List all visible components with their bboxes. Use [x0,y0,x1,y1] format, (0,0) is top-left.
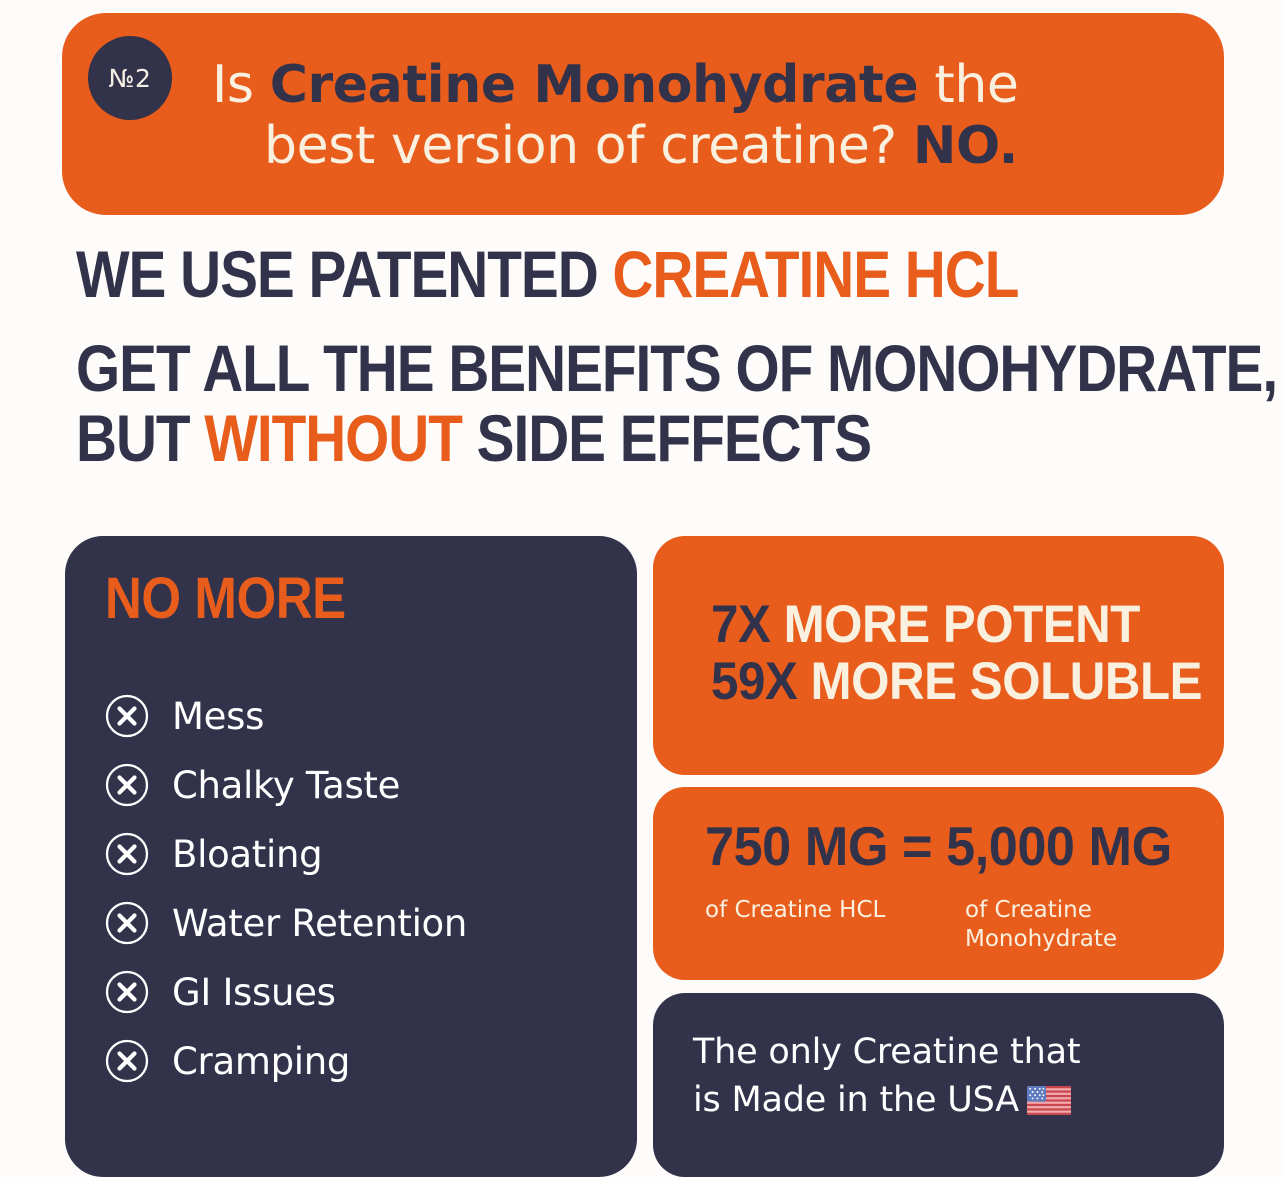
circle-x-icon [105,694,149,738]
headline-3-accent: WITHOUT [204,401,462,475]
no-more-list: Mess Chalky Taste Bloa [105,690,597,1087]
potency-line-1: 7X MORE POTENT [711,596,1188,653]
dose-captions: of Creatine HCL of Creatine Monohydrate [705,896,1224,955]
header-question-part2: the [918,55,1018,115]
no-more-title: NO MORE [105,570,538,628]
no-more-panel: NO MORE Mess Chalky Tas [65,536,637,1177]
header-question-line2: best version of creatine? NO. [264,116,1202,177]
list-item-label: Bloating [172,836,322,873]
potency-card: 7X MORE POTENT 59X MORE SOLUBLE [653,536,1224,775]
list-item-label: Cramping [172,1043,350,1080]
circle-x-icon [105,901,149,945]
potency-text-2: MORE SOLUBLE [797,652,1202,711]
list-item: GI Issues [105,966,597,1018]
made-in-usa-card: The only Creatine that is Made in the US… [653,993,1224,1177]
potency-multiplier-1: 7X [711,595,770,654]
headline-1-accent: CREATINE HCL [612,237,1018,311]
headline-1-plain: WE USE PATENTED [76,237,612,311]
list-item-label: GI Issues [172,974,336,1011]
step-number-label: №2 [109,66,152,91]
header-question-emphasis2: NO. [913,116,1018,176]
list-item-label: Water Retention [172,905,467,942]
circle-x-icon [105,832,149,876]
dose-equivalence-card: 750 MG = 5,000 MG of Creatine HCL of Cre… [653,787,1224,980]
made-in-usa-line-2: is Made in the USA [693,1080,1019,1120]
infographic-page: №2 Is Creatine Monohydrate the best vers… [0,0,1284,1177]
step-number-badge: №2 [88,36,172,120]
list-item-label: Chalky Taste [172,767,400,804]
list-item: Bloating [105,828,597,880]
headline-line-3: BUT WITHOUT SIDE EFFECTS [76,407,1074,470]
dose-caption-left: of Creatine HCL [705,896,965,955]
headline-line-1: WE USE PATENTED CREATINE HCL [76,243,1074,306]
dose-equation: 750 MG = 5,000 MG [705,819,1198,874]
list-item: Water Retention [105,897,597,949]
list-item-label: Mess [172,698,264,735]
headline-3-part1: BUT [76,401,204,475]
header-question-part1: Is [212,55,270,115]
list-item: Chalky Taste [105,759,597,811]
made-in-usa-text: The only Creatine that is Made in the US… [693,1029,1224,1128]
header-banner: №2 Is Creatine Monohydrate the best vers… [62,13,1224,215]
right-column: 7X MORE POTENT 59X MORE SOLUBLE 750 MG =… [653,536,1224,1177]
headline-line-2: GET ALL THE BENEFITS OF MONOHYDRATE, [76,337,1074,400]
circle-x-icon [105,1039,149,1083]
list-item: Cramping [105,1035,597,1087]
circle-x-icon [105,763,149,807]
usa-flag-icon [1027,1081,1071,1129]
potency-line-2: 59X MORE SOLUBLE [711,653,1188,710]
made-in-usa-line-1: The only Creatine that [693,1032,1080,1072]
headline-block: WE USE PATENTED CREATINE HCL GET ALL THE… [76,243,1236,470]
potency-text-1: MORE POTENT [770,595,1140,654]
list-item: Mess [105,690,597,742]
dose-caption-right: of Creatine Monohydrate [965,896,1180,955]
header-question-part3: best version of creatine? [264,116,913,176]
headline-3-part2: SIDE EFFECTS [462,401,871,475]
header-question-emphasis1: Creatine Monohydrate [270,55,918,115]
circle-x-icon [105,970,149,1014]
header-question: Is Creatine Monohydrate the best version… [212,55,1202,177]
potency-multiplier-2: 59X [711,652,797,711]
